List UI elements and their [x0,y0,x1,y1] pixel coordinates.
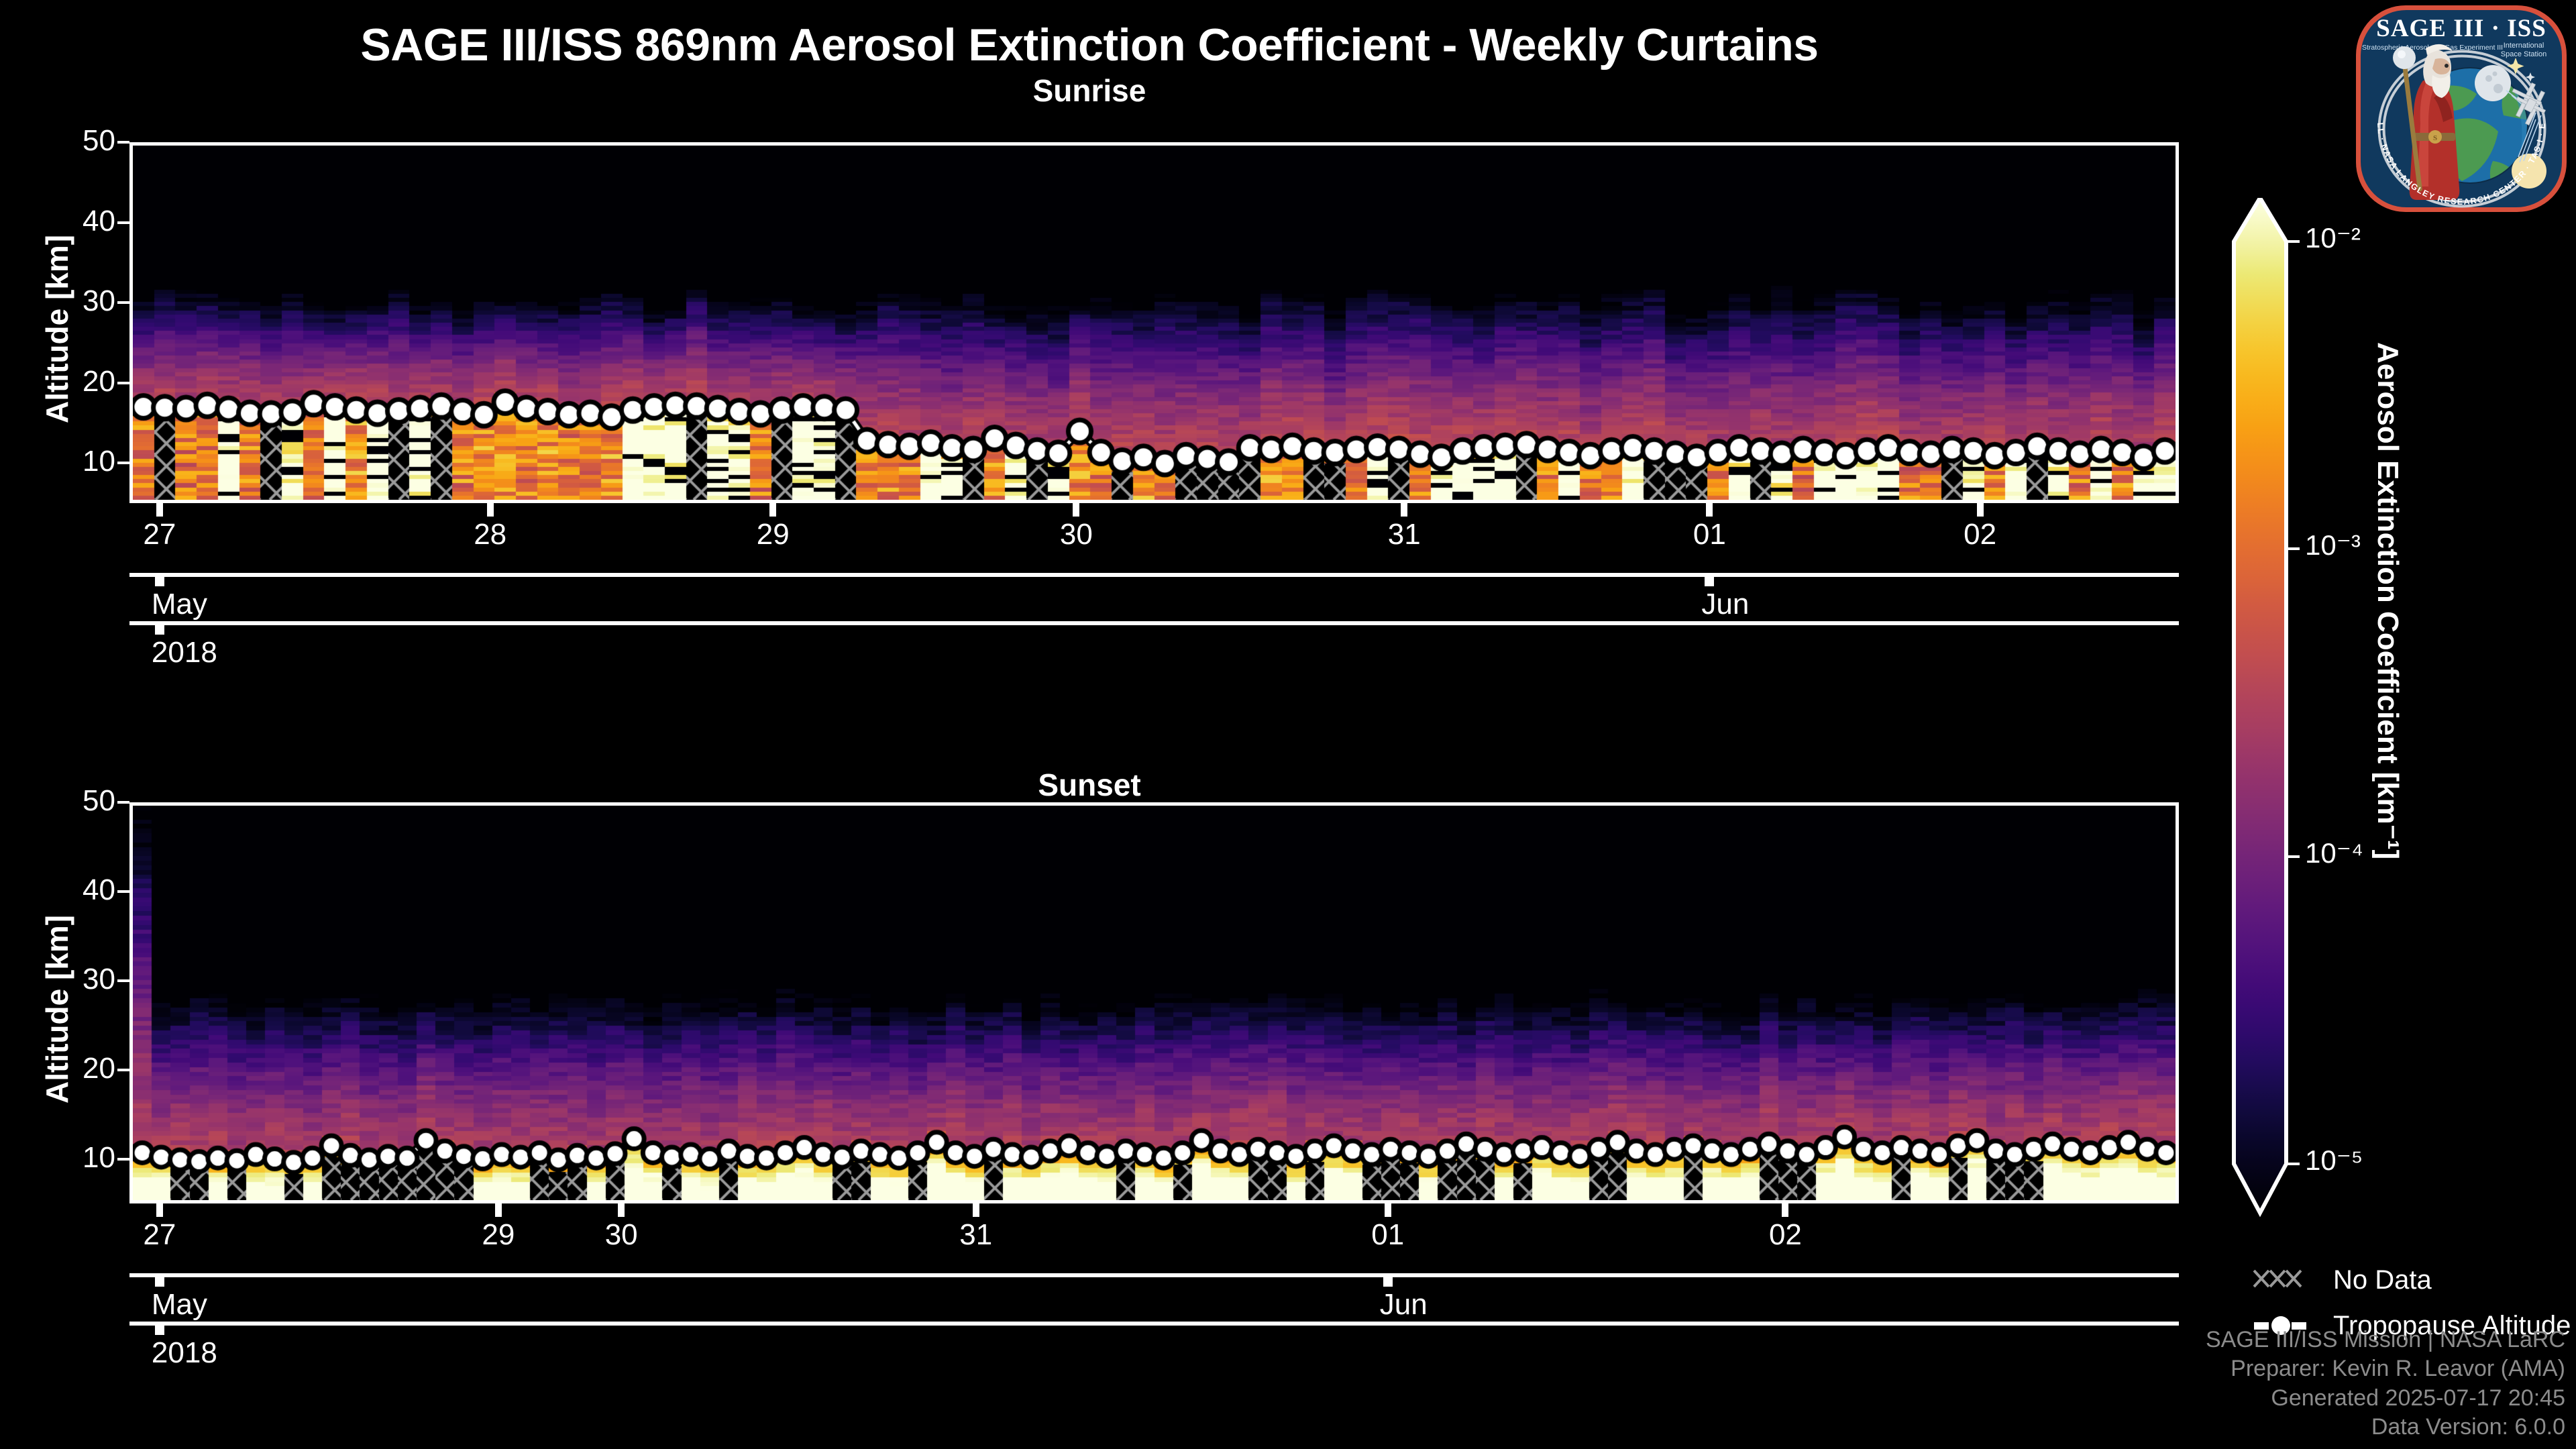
y-tick-mark [117,1069,129,1071]
no-data-hatch-icon [2253,1264,2314,1296]
y-tick-label: 50 [42,784,115,818]
x-tick-mark [1706,503,1713,517]
footer-line-mission: SAGE III/ISS Mission | NASA LaRC [2206,1326,2565,1355]
date-level-tick [155,573,164,586]
colorbar-gradient [2207,198,2368,1220]
colorbar-tick-mark [2286,1163,2300,1165]
x-tick-mark [1782,1203,1788,1217]
x-tick-mark [1401,503,1407,517]
heatmap-canvas-sunset [133,806,2176,1200]
y-tick-label: 10 [42,1141,115,1175]
y-tick-label: 30 [42,284,115,318]
y-tick-label: 10 [42,445,115,478]
x-tick-label-day: 31 [936,1218,1016,1252]
x-tick-label-day: 01 [1348,1218,1428,1252]
footer-line-generated: Generated 2025-07-17 20:45 [2206,1384,2565,1413]
x-tick-mark [618,1203,625,1217]
y-tick-mark [117,382,129,384]
x-tick-label-day: 30 [581,1218,661,1252]
colorbar-tick-label: 10⁻² [2305,221,2361,254]
date-level-tick [155,1322,164,1335]
x-tick-label-day: 27 [119,1218,200,1252]
x-tick-label-year: 2018 [152,636,217,669]
footer-credits: SAGE III/ISS Mission | NASA LaRC Prepare… [2206,1326,2565,1442]
footer-line-preparer: Preparer: Kevin R. Leavor (AMA) [2206,1354,2565,1384]
x-tick-label-day: 01 [1669,518,1750,551]
legend-item-no-data: No Data [2253,1264,2432,1296]
page-title: SAGE III/ISS 869nm Aerosol Extinction Co… [0,19,2179,71]
y-tick-label: 20 [42,1052,115,1085]
date-level-tick [1705,573,1714,586]
date-level-rule [129,621,2179,625]
colorbar-tick-label: 10⁻⁵ [2305,1144,2363,1177]
panel-title-sunset: Sunset [0,767,2179,803]
logo-svg: SAGE III · ISS Stratospheric Aerosol and… [2351,1,2572,216]
date-level-tick [1383,1273,1393,1287]
y-tick-label: 30 [42,963,115,996]
svg-text:International: International [2504,42,2544,50]
x-tick-label-day: 27 [119,518,200,551]
x-tick-mark [769,503,776,517]
date-level-rule [129,1322,2179,1326]
y-tick-mark [117,462,129,464]
x-tick-mark [1977,503,1984,517]
y-tick-label: 40 [42,873,115,907]
heatmap-plot-sunset[interactable] [129,802,2179,1203]
x-tick-label-day: 30 [1036,518,1116,551]
panel-title-sunrise: Sunrise [0,72,2179,109]
legend-label-no-data: No Data [2333,1265,2432,1295]
y-tick-label: 50 [42,124,115,158]
x-tick-label-month: May [152,588,207,621]
x-tick-mark [156,1203,163,1217]
date-level-rule [129,573,2179,577]
heatmap-plot-sunrise[interactable] [129,142,2179,503]
colorbar-tick-mark [2286,240,2300,243]
y-tick-label: 40 [42,205,115,238]
y-tick-label: 20 [42,365,115,398]
x-tick-label-month: May [152,1288,207,1322]
x-tick-label-year: 2018 [152,1336,217,1370]
x-tick-mark [973,1203,979,1217]
y-tick-mark [117,221,129,224]
x-tick-label-month: Jun [1380,1288,1428,1322]
y-tick-mark [117,979,129,982]
x-tick-mark [156,503,163,517]
x-tick-label-month: Jun [1701,588,1749,621]
footer-line-version: Data Version: 6.0.0 [2206,1413,2565,1442]
colorbar[interactable]: 10⁻²10⁻³10⁻⁴10⁻⁵ [2207,198,2368,1226]
date-level-tick [155,621,164,635]
y-tick-mark [117,1158,129,1161]
colorbar-tick-mark [2286,855,2300,858]
x-tick-label-day: 31 [1364,518,1444,551]
x-tick-mark [1385,1203,1391,1217]
y-tick-mark [117,301,129,304]
x-tick-label-day: 29 [733,518,813,551]
y-tick-mark [117,141,129,144]
colorbar-tick-mark [2286,547,2300,550]
x-tick-mark [1073,503,1079,517]
y-tick-mark [117,890,129,893]
colorbar-tick-label: 10⁻⁴ [2305,837,2363,869]
svg-text:SAGE III · ISS: SAGE III · ISS [2376,15,2546,42]
y-tick-mark [117,801,129,804]
x-tick-label-day: 29 [458,1218,539,1252]
colorbar-tick-label: 10⁻³ [2305,529,2361,561]
svg-text:Space Station: Space Station [2501,50,2547,58]
colorbar-body [2234,198,2286,1213]
x-tick-mark [487,503,494,517]
x-tick-label-day: 28 [450,518,531,551]
x-tick-label-day: 02 [1745,1218,1825,1252]
heatmap-canvas-sunrise [133,146,2176,500]
x-tick-mark [495,1203,502,1217]
x-tick-label-day: 02 [1940,518,2021,551]
svg-text:S: S [2433,134,2437,142]
date-level-rule [129,1273,2179,1277]
date-level-tick [155,1273,164,1287]
colorbar-label: Aerosol Extinction Coefficient [km⁻¹] [2371,342,2405,859]
sage-iii-iss-mission-logo: SAGE III · ISS Stratospheric Aerosol and… [2351,1,2572,216]
